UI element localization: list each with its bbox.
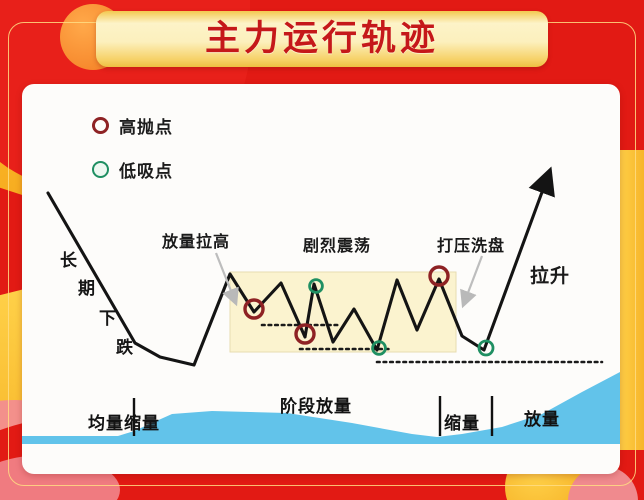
page-title: 主力运行轨迹: [205, 22, 439, 57]
volume-label-shrink: 缩量: [444, 409, 480, 434]
annotation-rally: 拉升: [530, 261, 570, 288]
legend-item-low: 低吸点: [92, 154, 173, 184]
legend-label-low: 低吸点: [119, 157, 173, 182]
annotation-shakeout: 打压洗盘: [437, 232, 505, 256]
legend-item-high: 高抛点: [92, 110, 173, 140]
red-ring-icon: [92, 117, 109, 134]
annotation-pull-up: 放量拉高: [162, 228, 230, 252]
shakeout-arrow: [466, 256, 482, 298]
decline-char-1: 长: [60, 246, 77, 271]
gold-bar-right: [618, 150, 644, 450]
volume-label-average-shrink: 均量缩量: [88, 409, 160, 434]
legend-label-high: 高抛点: [119, 113, 173, 138]
volume-label-staged-expansion: 阶段放量: [280, 392, 352, 417]
decline-char-3: 下: [99, 304, 116, 329]
green-ring-icon: [92, 161, 109, 178]
infographic-root: 主力运行轨迹: [0, 0, 644, 500]
annotation-oscillation: 剧烈震荡: [303, 232, 371, 256]
legend: 高抛点 低吸点: [92, 110, 173, 184]
decline-char-4: 跌: [116, 333, 133, 358]
decline-char-2: 期: [78, 274, 95, 299]
title-banner: 主力运行轨迹: [96, 11, 548, 67]
volume-label-expansion: 放量: [524, 405, 560, 430]
